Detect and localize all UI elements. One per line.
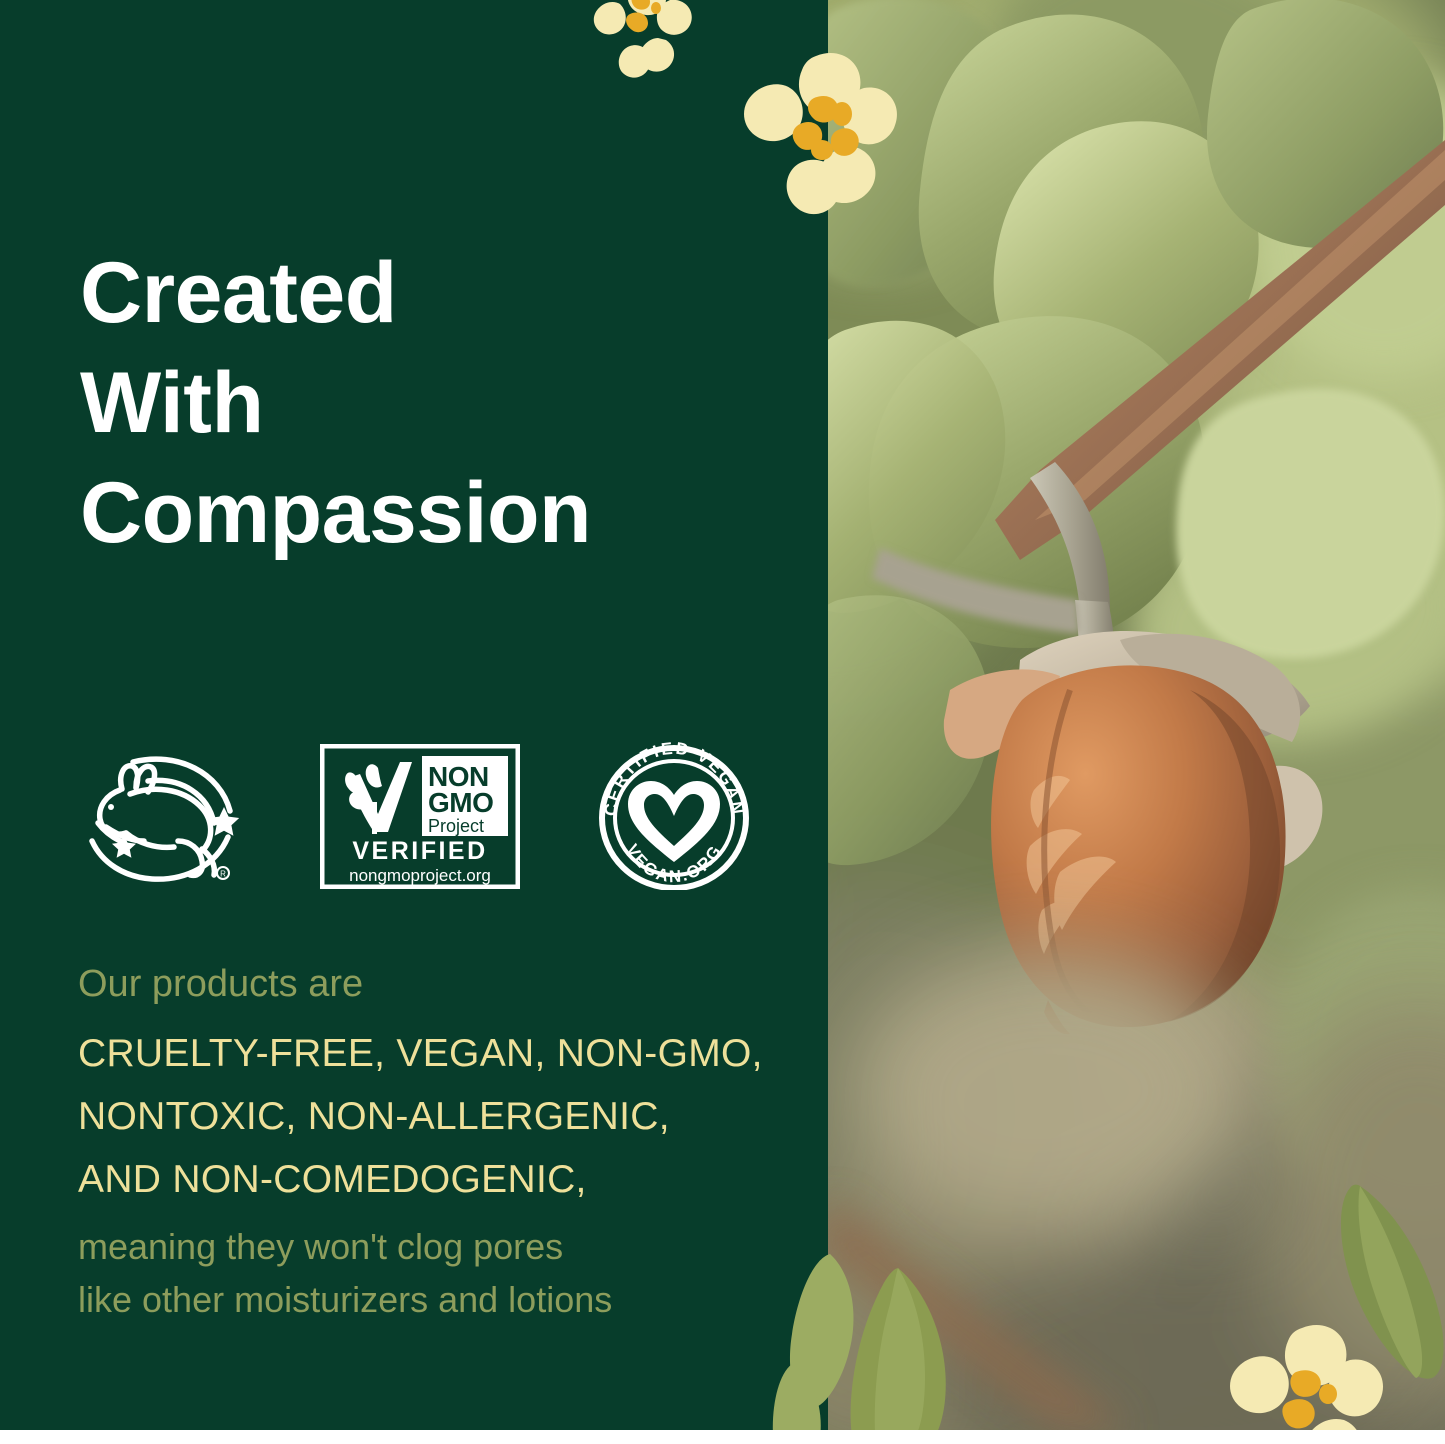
non-gmo-project-verified-icon: NON GMO Project VERIFIED nongmoproject.o… [320,744,520,894]
page-title-line-1: Created [80,238,591,348]
copy-tail: meaning they won't clog pores like other… [78,1221,778,1325]
copy-tail-line-1: meaning they won't clog pores [78,1221,778,1273]
certified-vegan-icon: CERTIFIED VEGAN VEGAN.ORG [594,742,754,895]
non-gmo-line-2: GMO [428,787,493,818]
copy-claim-line-1: CRUELTY-FREE, VEGAN, NON-GMO, [78,1022,778,1085]
copy-claim-line-3: AND NON-COMEDOGENIC, [78,1148,778,1211]
page-title: Created With Compassion [80,238,591,568]
page-title-line-2: With [80,348,591,458]
copy-tail-line-2: like other moisturizers and lotions [78,1274,778,1326]
promo-banner: Created With Compassion [0,0,1445,1444]
body-copy: Our products are CRUELTY-FREE, VEGAN, NO… [78,955,778,1326]
copy-claim-line-2: NONTOXIC, NON-ALLERGENIC, [78,1085,778,1148]
certification-badges: R [78,742,754,895]
non-gmo-url: nongmoproject.org [349,866,491,885]
non-gmo-line-3: Project [428,816,484,836]
page-title-line-3: Compassion [80,458,591,568]
bottom-white-strip [0,1430,1445,1444]
registered-mark: R [220,870,226,879]
copy-lead: Our products are [78,955,778,1014]
copy-claims: CRUELTY-FREE, VEGAN, NON-GMO, NONTOXIC, … [78,1022,778,1212]
non-gmo-verified: VERIFIED [352,837,487,865]
leaping-bunny-icon: R [78,745,246,892]
